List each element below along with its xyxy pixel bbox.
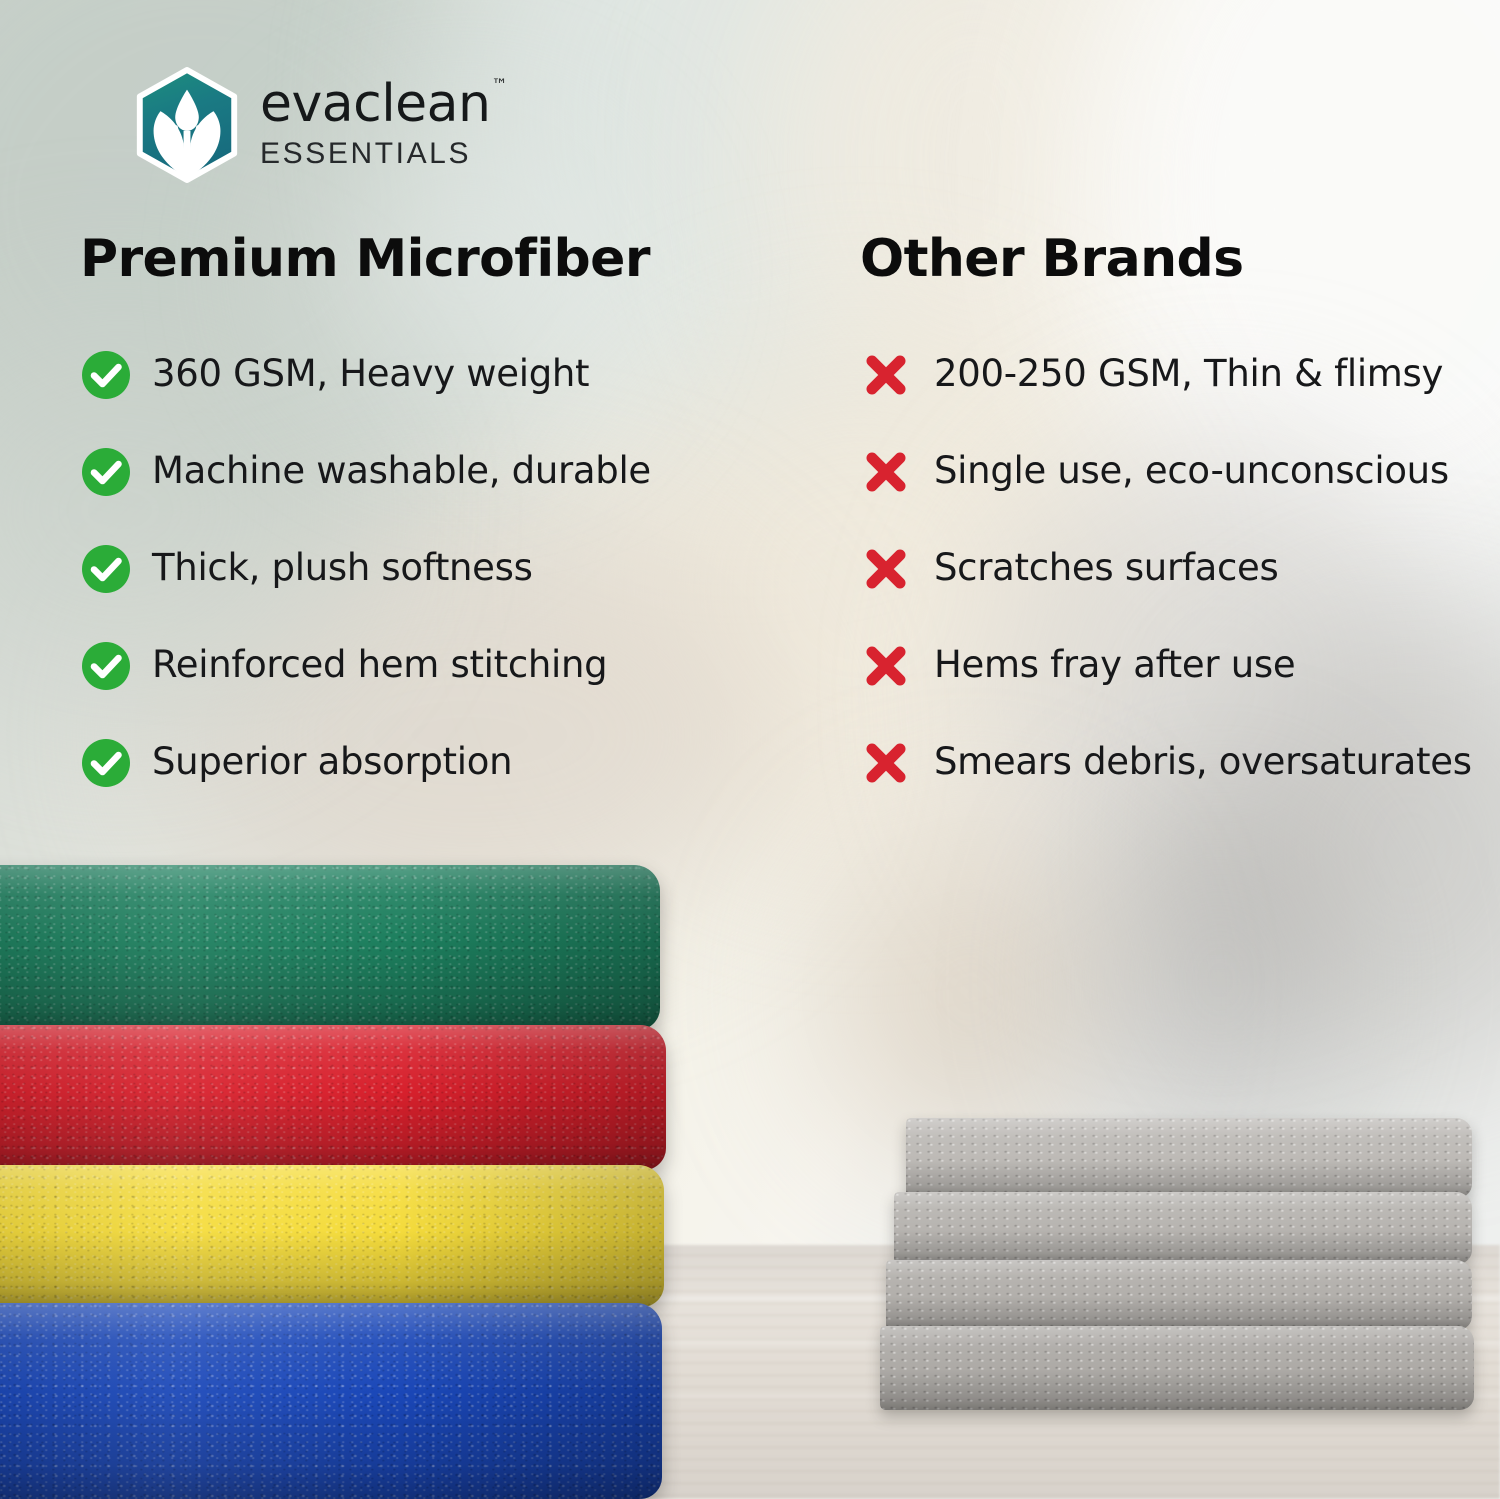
- cross-mark-icon: [860, 446, 912, 498]
- list-item: Scratches surfaces: [860, 543, 1480, 595]
- cross-mark-icon: [860, 640, 912, 692]
- list-item: Machine washable, durable: [80, 446, 780, 498]
- hexagon-leaf-droplet-logo-icon: [128, 66, 246, 184]
- check-circle-icon: [80, 349, 132, 401]
- list-item: 200-250 GSM, Thin & flimsy: [860, 349, 1480, 401]
- feature-label: Hems fray after use: [934, 645, 1295, 686]
- list-item: Reinforced hem stitching: [80, 640, 780, 692]
- feature-label: 360 GSM, Heavy weight: [152, 354, 589, 395]
- feature-list-other-brands: 200-250 GSM, Thin & flimsy Single use, e…: [860, 349, 1480, 789]
- towel-gray: [894, 1192, 1472, 1264]
- list-item: Thick, plush softness: [80, 543, 780, 595]
- towel-gray: [906, 1118, 1472, 1198]
- list-item: Single use, eco-unconscious: [860, 446, 1480, 498]
- column-heading-premium: Premium Microfiber: [80, 232, 780, 287]
- check-circle-icon: [80, 737, 132, 789]
- list-item: Superior absorption: [80, 737, 780, 789]
- brand-wordmark: evaclean™: [260, 78, 506, 130]
- list-item: Smears debris, oversaturates: [860, 737, 1480, 789]
- feature-label: Single use, eco-unconscious: [934, 451, 1449, 492]
- towel-red: [0, 1025, 666, 1170]
- feature-label: 200-250 GSM, Thin & flimsy: [934, 354, 1443, 395]
- infographic-canvas: evaclean™ ESSENTIALS Premium Microfiber …: [0, 0, 1500, 1499]
- check-circle-icon: [80, 640, 132, 692]
- feature-label: Scratches surfaces: [934, 548, 1278, 589]
- background-bokeh-blob: [820, 830, 1120, 1160]
- brand-logo: evaclean™ ESSENTIALS: [128, 66, 506, 184]
- towel-green: [0, 865, 660, 1030]
- towel-gray: [880, 1326, 1474, 1410]
- feature-label: Machine washable, durable: [152, 451, 651, 492]
- background-bokeh-blob: [1090, 800, 1350, 1160]
- feature-label: Smears debris, oversaturates: [934, 742, 1472, 783]
- column-other-brands: Other Brands 200-250 GSM, Thin & flimsy: [860, 232, 1480, 789]
- trademark-symbol: ™: [491, 75, 507, 94]
- list-item: 360 GSM, Heavy weight: [80, 349, 780, 401]
- brand-name: evaclean: [260, 74, 490, 134]
- column-premium-microfiber: Premium Microfiber 360 GSM, Heavy weight: [80, 232, 780, 789]
- brand-tagline: ESSENTIALS: [260, 139, 506, 169]
- cross-mark-icon: [860, 349, 912, 401]
- cross-mark-icon: [860, 543, 912, 595]
- towel-blue: [0, 1303, 662, 1499]
- towel-gray: [886, 1260, 1472, 1330]
- other-brands-towel-stack: [880, 1118, 1480, 1418]
- towel-yellow: [0, 1165, 664, 1307]
- feature-list-premium: 360 GSM, Heavy weight Machine washable, …: [80, 349, 780, 789]
- check-circle-icon: [80, 543, 132, 595]
- cross-mark-icon: [860, 737, 912, 789]
- column-heading-other-brands: Other Brands: [860, 232, 1480, 287]
- feature-label: Thick, plush softness: [152, 548, 533, 589]
- check-circle-icon: [80, 446, 132, 498]
- feature-label: Superior absorption: [152, 742, 512, 783]
- premium-towel-stack: [0, 865, 690, 1425]
- list-item: Hems fray after use: [860, 640, 1480, 692]
- brand-wordmark-group: evaclean™ ESSENTIALS: [260, 78, 506, 173]
- feature-label: Reinforced hem stitching: [152, 645, 607, 686]
